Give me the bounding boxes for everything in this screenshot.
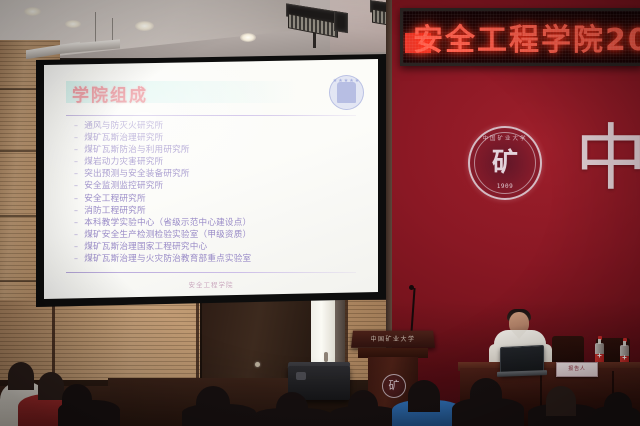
wall-big-character: 中 <box>575 122 640 194</box>
bullet-dash-icon: – <box>74 253 78 265</box>
slide-title: 学院组成 <box>72 81 148 106</box>
emblem-cn-name: 中国矿业大学 <box>470 134 540 142</box>
bullet-text: 煤矿瓦斯防治与利用研究所 <box>84 144 190 156</box>
bullet-dash-icon: – <box>74 120 78 132</box>
name-placard: 报告人 <box>556 362 598 377</box>
led-pixel-grid <box>403 11 640 63</box>
audience-head <box>470 378 502 410</box>
bullet-text: 消防工程研究所 <box>84 205 146 217</box>
audience-head <box>8 362 34 390</box>
slide-bullet-item: – 消防工程研究所 <box>74 205 374 217</box>
slide-bullet-item: – 煤岩动力灾害研究所 <box>74 156 374 168</box>
ceiling-downlight <box>135 21 154 31</box>
slide-bullet-list: – 通风与防灭火研究所 – 煤矿瓦斯治理研究所 – 煤矿瓦斯防治与利用研究所 –… <box>74 120 374 265</box>
slide-bullet-item: – 安全工程研究所 <box>74 193 374 205</box>
slide-bullet-item: – 煤矿瓦斯防治与利用研究所 <box>74 144 374 156</box>
slide-bullet-item: – 煤矿安全生产检测检验实验室（甲级资质） <box>74 229 374 241</box>
slide-bullet-item: – 安全监测监控研究所 <box>74 180 374 192</box>
bullet-text: 煤矿安全生产检测检验实验室（甲级资质） <box>84 229 251 241</box>
bullet-text: 煤岩动力灾害研究所 <box>84 156 163 168</box>
slide-bullet-item: – 煤矿瓦斯治理与火灾防治教育部重点实验室 <box>74 253 374 265</box>
door-handle-icon <box>324 352 328 362</box>
slide-bullet-item: – 通风与防灭火研究所 <box>74 120 374 132</box>
slide-bullet-item: – 煤矿瓦斯治理国家工程研究中心 <box>74 241 374 253</box>
led-banner: 安全工程学院20 <box>400 8 640 66</box>
bullet-dash-icon: – <box>74 241 78 253</box>
bullet-text: 煤矿瓦斯治理国家工程研究中心 <box>84 241 207 253</box>
slide-bullet-item: – 煤矿瓦斯治理研究所 <box>74 132 374 144</box>
bullet-dash-icon: – <box>74 205 78 217</box>
audience-head <box>38 372 64 400</box>
university-emblem: 中国矿业大学 矿 1909 <box>468 126 542 200</box>
audience-head <box>408 380 440 412</box>
bullet-dash-icon: – <box>74 132 78 144</box>
projection-screen-surface: 学院组成 ★★★★★ – 通风与防灭火研究所 – 煤矿瓦斯治理研究所 – 煤矿瓦… <box>44 59 378 299</box>
bullet-text: 本科教学实验中心（省级示范中心建设点） <box>84 217 251 229</box>
ceiling-downlight <box>240 33 256 42</box>
bullet-text: 突出预测与安全装备研究所 <box>84 168 190 180</box>
audience-head <box>348 390 378 422</box>
slide-university-logo-icon: ★★★★★ <box>329 75 364 110</box>
slide-divider-top <box>66 115 356 116</box>
slide-bullet-item: – 本科教学实验中心（省级示范中心建设点） <box>74 217 374 229</box>
bullet-dash-icon: – <box>74 168 78 180</box>
bullet-dash-icon: – <box>74 156 78 168</box>
emblem-year: 1909 <box>470 183 540 190</box>
ceiling-downlight <box>24 7 41 16</box>
podium-label: 中国矿业大学 <box>358 334 428 343</box>
bullet-text: 安全工程研究所 <box>84 193 146 205</box>
audience-head <box>276 392 308 424</box>
emblem-center-glyph: 矿 <box>487 145 523 181</box>
ceiling-downlight <box>65 20 81 28</box>
bullet-dash-icon: – <box>74 180 78 192</box>
projector-lens-icon <box>296 372 306 380</box>
bullet-text: 安全监测监控研究所 <box>84 180 163 192</box>
bullet-text: 煤矿瓦斯治理与火灾防治教育部重点实验室 <box>84 253 251 265</box>
podium-emblem-glyph: 矿 <box>383 375 405 397</box>
lecture-hall-photo: 安全工程学院20 中国矿业大学 矿 1909 中 学院组成 ★★★★★ – 通风… <box>0 0 640 426</box>
slide-divider-bottom <box>66 272 356 273</box>
bullet-dash-icon: – <box>74 193 78 205</box>
audience-head <box>196 386 230 420</box>
bullet-dash-icon: – <box>74 144 78 156</box>
podium-emblem: 矿 <box>382 374 406 398</box>
door-knob-icon <box>255 362 260 367</box>
audience-head <box>604 392 632 420</box>
slide-footer: 安全工程学院 <box>44 279 378 289</box>
microphone-icon <box>409 285 414 290</box>
bullet-text: 通风与防灭火研究所 <box>84 120 163 132</box>
bullet-dash-icon: – <box>74 229 78 241</box>
audience-head <box>62 384 92 414</box>
bullet-text: 煤矿瓦斯治理研究所 <box>84 132 163 144</box>
slide-bullet-item: – 突出预测与安全装备研究所 <box>74 168 374 180</box>
slide: 学院组成 ★★★★★ – 通风与防灭火研究所 – 煤矿瓦斯治理研究所 – 煤矿瓦… <box>44 59 378 299</box>
audience-head <box>546 386 576 416</box>
bullet-dash-icon: – <box>74 217 78 229</box>
slide-logo-shield <box>337 82 356 103</box>
name-placard-text: 报告人 <box>557 363 597 376</box>
